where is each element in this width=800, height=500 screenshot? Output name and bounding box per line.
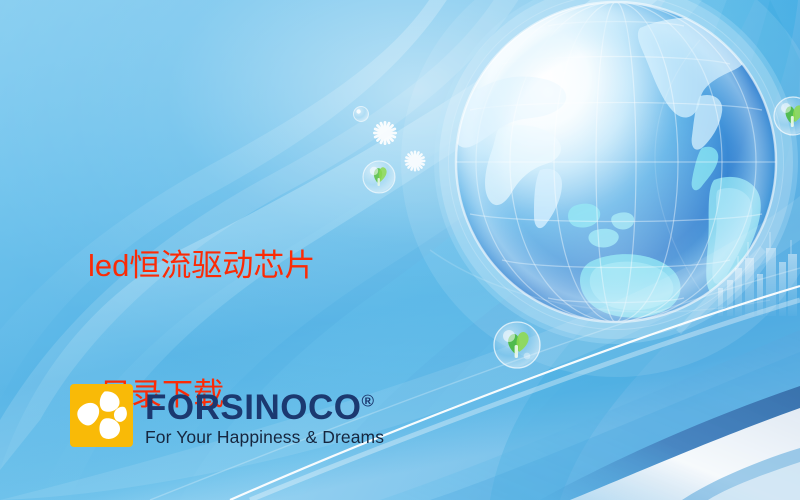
brand-name: FORSINOCO® — [145, 390, 384, 425]
banner-canvas: led恒流驱动芯片 目录下载 FORSINOCO® For Your Happi… — [0, 0, 800, 500]
brand-logo[interactable]: FORSINOCO® For Your Happiness & Dreams — [70, 384, 384, 447]
four-petal-pinwheel-icon — [70, 384, 133, 447]
brand-tagline: For Your Happiness & Dreams — [145, 428, 384, 447]
bubble-plain-icon — [354, 107, 369, 122]
headline-line-1: led恒流驱动芯片 — [88, 246, 315, 286]
bubble-with-sprout-icon — [494, 322, 540, 368]
bubble-with-sprout-icon — [363, 161, 395, 193]
registered-trademark-icon: ® — [361, 391, 374, 410]
brand-name-text: FORSINOCO — [145, 388, 361, 427]
brand-wordmark: FORSINOCO® For Your Happiness & Dreams — [145, 384, 384, 447]
